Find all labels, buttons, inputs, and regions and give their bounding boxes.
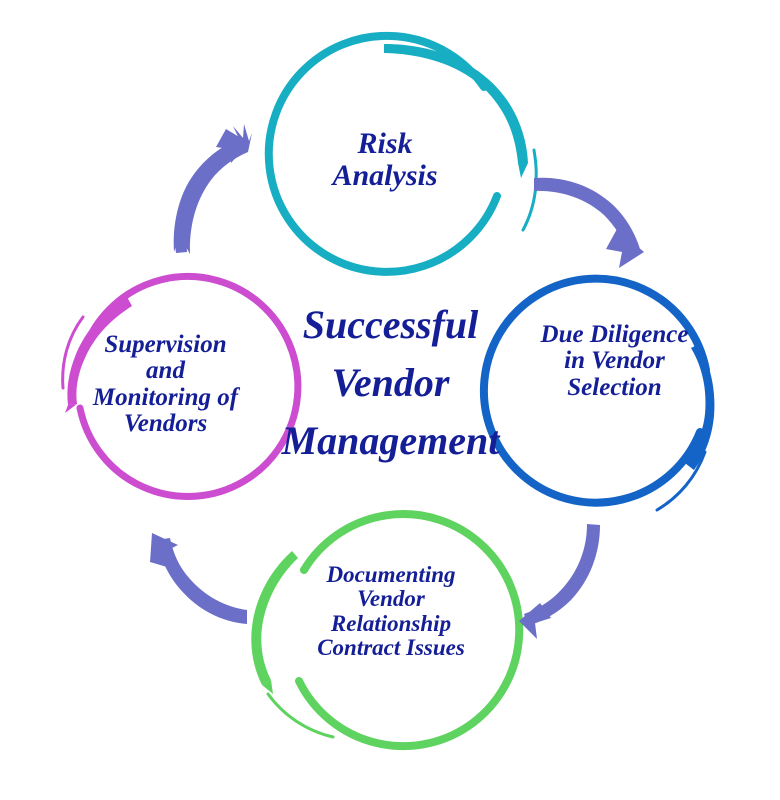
ring-tail-tip-magenta	[65, 404, 77, 413]
ring-stroke-green	[299, 514, 519, 746]
arrow-bottom-left-tail	[157, 538, 247, 624]
arrow-top-right	[534, 178, 644, 268]
node-ring-supervision[interactable]	[63, 276, 298, 496]
ring-tail-magenta	[67, 297, 132, 405]
node-ring-due-diligence[interactable]	[484, 279, 715, 510]
ring-tail-green	[251, 551, 298, 685]
node-ring-documenting[interactable]	[251, 514, 519, 746]
arrow-bottom-right	[519, 524, 600, 639]
vendor-management-cycle-diagram: Risk Analysis Due Diligence in Vendor Se…	[0, 0, 780, 800]
node-ring-risk-analysis[interactable]	[269, 36, 537, 272]
ring-stroke-blue	[484, 279, 706, 503]
cycle-graphic	[0, 0, 780, 800]
ring-tail-tip-teal	[518, 163, 528, 178]
arrow-bottom-left	[150, 533, 247, 624]
arrow-top-left	[174, 124, 252, 254]
ring-tail-teal	[384, 44, 528, 163]
